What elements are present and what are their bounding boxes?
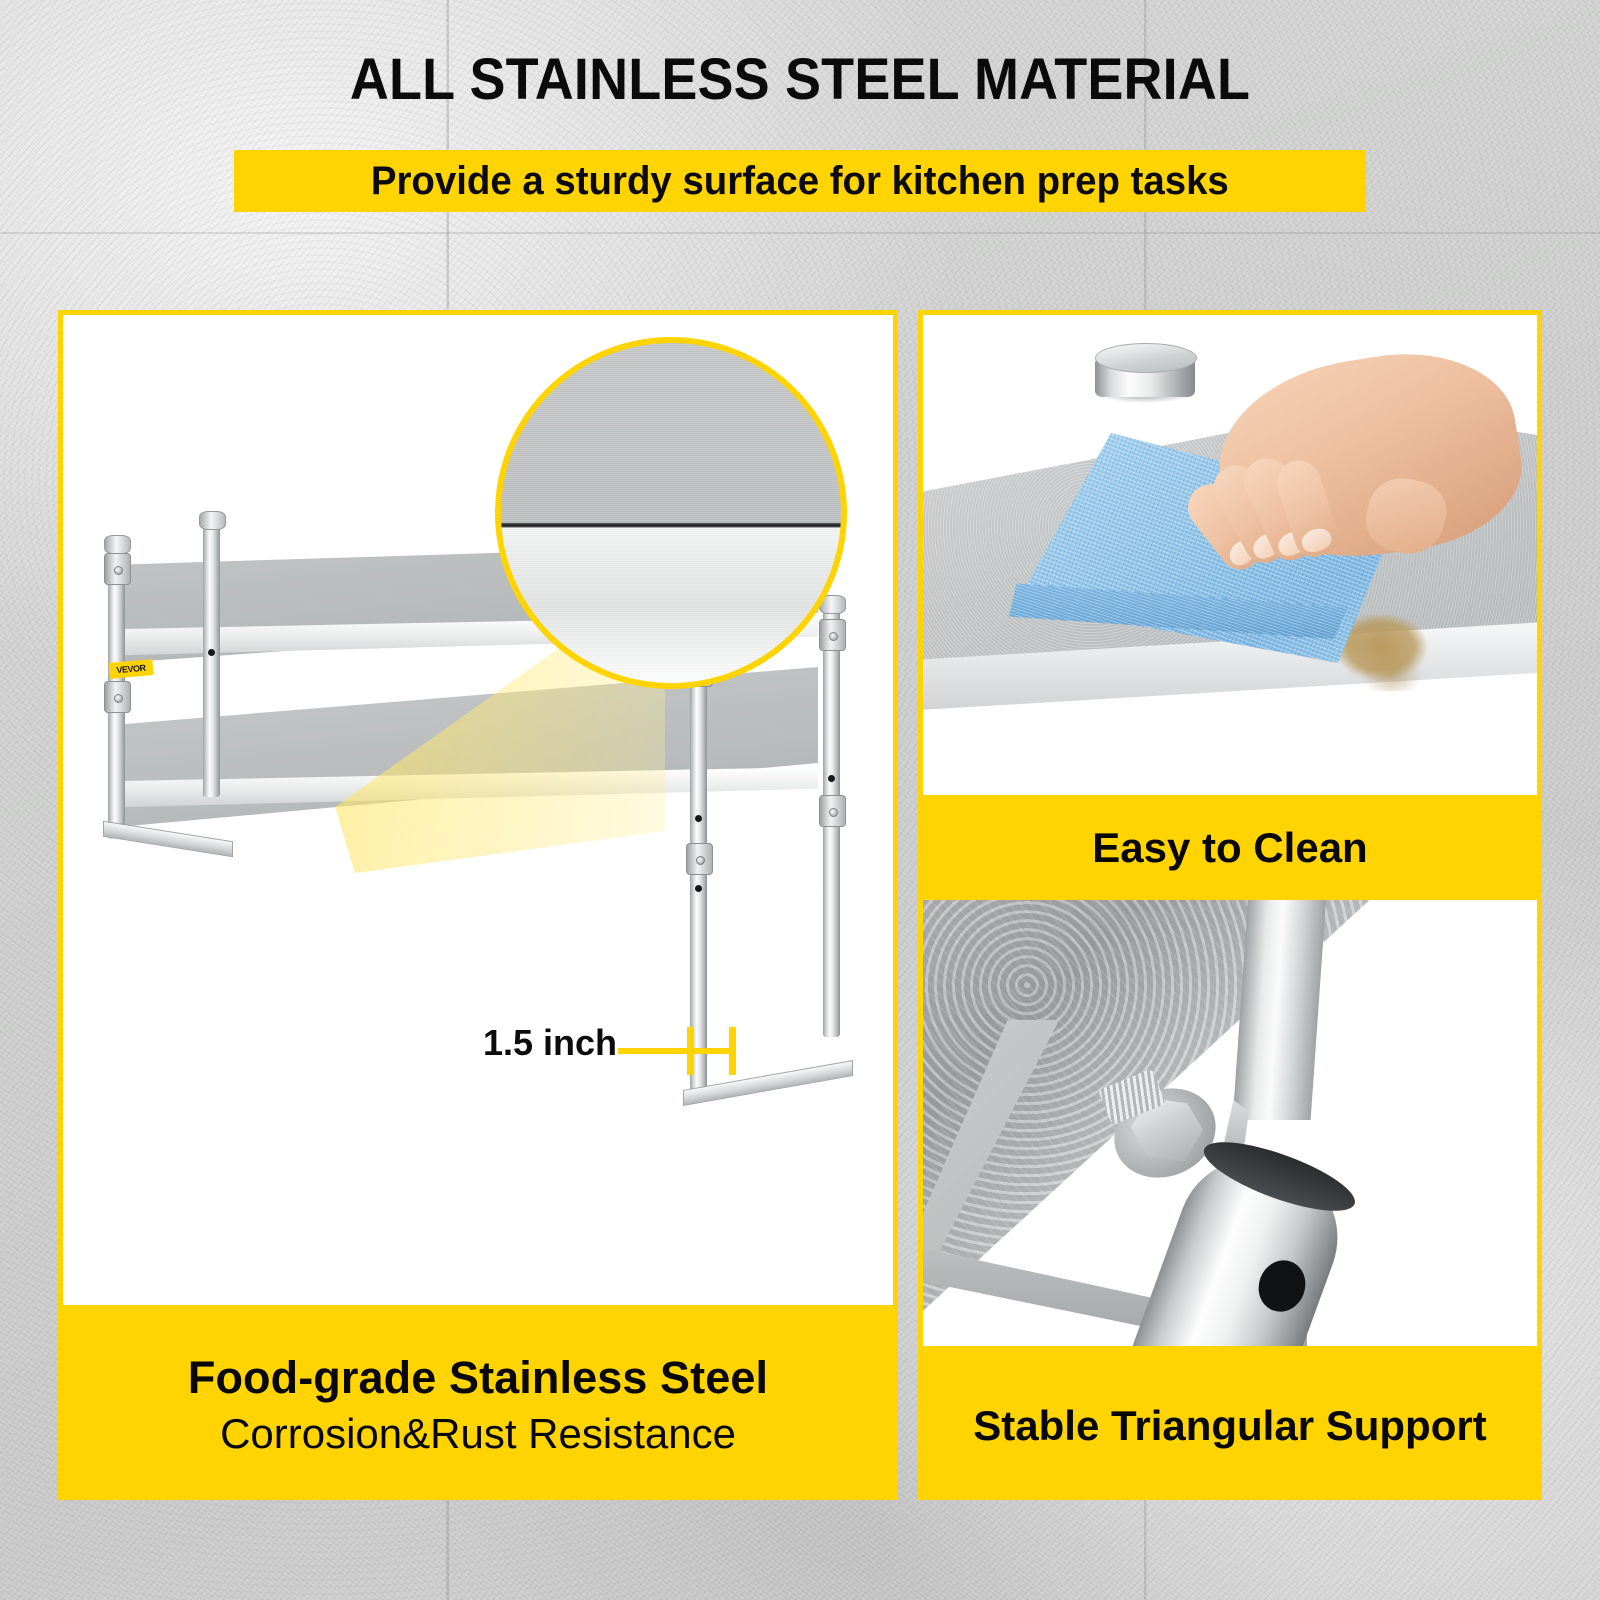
caption-line-1: Food-grade Stainless Steel [188, 1352, 768, 1404]
vevor-brand-badge: VEVOR [108, 659, 153, 679]
leg-cap-icon [104, 535, 131, 554]
leg-rear-left [203, 523, 220, 797]
caption-product-overview: Food-grade Stainless Steel Corrosion&Rus… [58, 1310, 898, 1500]
leg-adjust-hole [828, 775, 835, 782]
leg-clamp-lower [819, 795, 846, 827]
foot-plate-left [103, 821, 233, 858]
panel-triangular-support [918, 895, 1542, 1351]
leg-cap-icon [199, 511, 226, 530]
caption-triangular-support: Stable Triangular Support [918, 1351, 1542, 1500]
page-title: ALL STAINLESS STEEL MATERIAL [56, 46, 1544, 113]
caption-line-1: Easy to Clean [1092, 824, 1367, 872]
dimension-bar [687, 1048, 736, 1054]
support-closeup-scene [923, 900, 1537, 1346]
leg-adjust-hole [208, 649, 215, 656]
leg-adjust-hole [695, 885, 702, 892]
leg-front-left [108, 547, 125, 839]
dimension-label: 1.5 inch [483, 1022, 617, 1064]
leg-clamp-upper [104, 553, 131, 585]
leg-adjust-hole [695, 815, 702, 822]
dimension-leader-line [618, 1048, 696, 1054]
leg-clamp-lower [686, 843, 713, 875]
panel-easy-to-clean [918, 310, 1542, 800]
cleaning-scene [923, 315, 1537, 795]
magnifier-circle [495, 337, 847, 689]
foot-plate-right [683, 1060, 853, 1106]
leg-clamp-lower [104, 681, 131, 713]
caption-easy-to-clean: Easy to Clean [918, 800, 1542, 895]
vertical-post [1233, 900, 1328, 1120]
double-overshelf-illustration: VEVOR 1.5 inch [63, 315, 893, 1305]
caption-line-1: Stable Triangular Support [973, 1402, 1486, 1450]
fingernail [1299, 525, 1334, 555]
panel-product-overview: VEVOR 1.5 inch [58, 310, 898, 1310]
subtitle-banner: Provide a sturdy surface for kitchen pre… [234, 150, 1366, 212]
hand-icon [1123, 359, 1523, 607]
hex-bolt-icon [1103, 1072, 1221, 1178]
caption-line-2: Corrosion&Rust Resistance [220, 1410, 736, 1458]
subtitle-text: Provide a sturdy surface for kitchen pre… [371, 159, 1229, 204]
